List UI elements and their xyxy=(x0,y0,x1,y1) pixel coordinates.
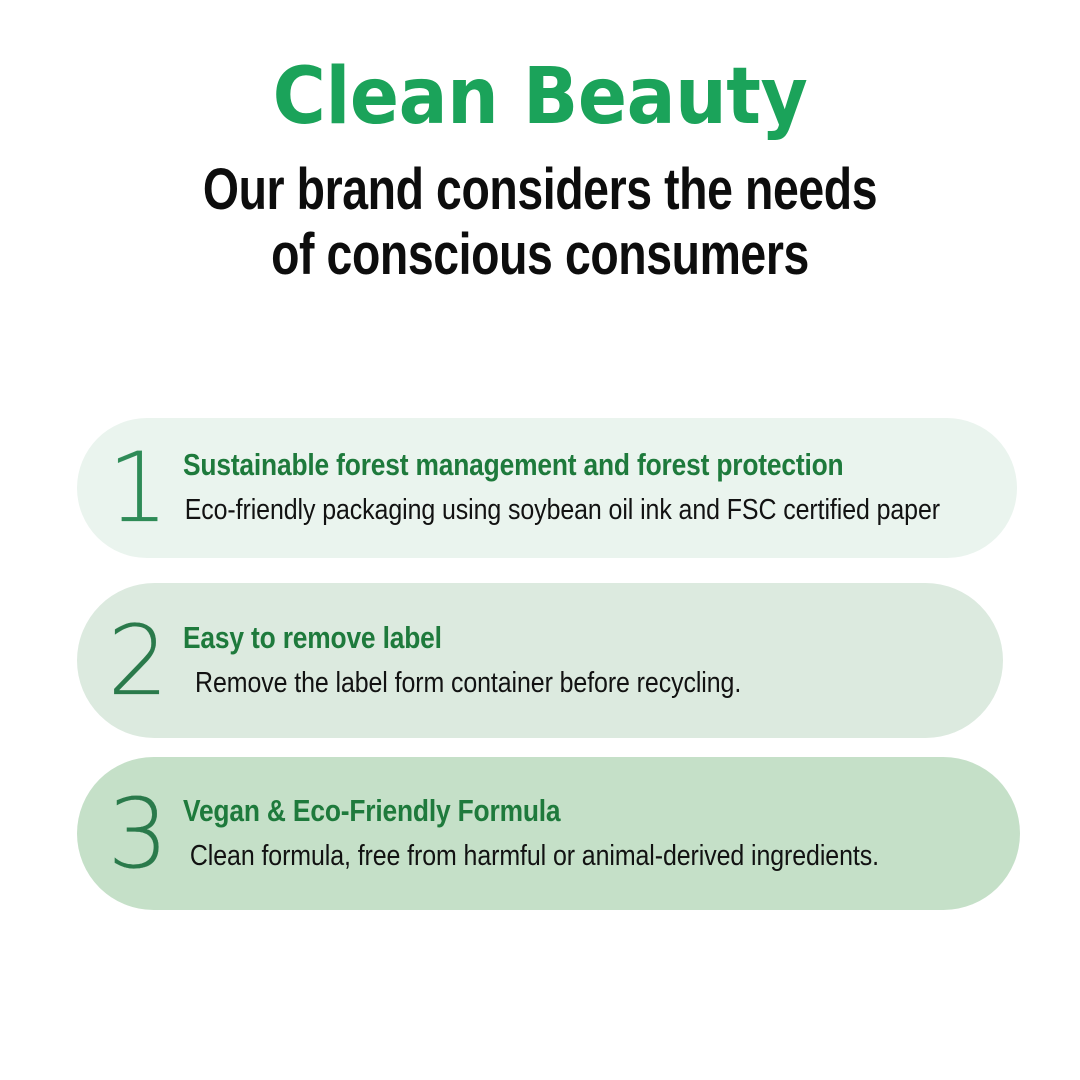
card-body-3: Vegan & Eco-Friendly Formula Clean formu… xyxy=(177,792,1020,876)
infographic-page: Clean Beauty Our brand considers the nee… xyxy=(0,0,1080,1080)
card-body-2: Easy to remove label Remove the label fo… xyxy=(177,619,1003,703)
card-body-1: Sustainable forest management and forest… xyxy=(177,446,1017,530)
card-text-2: Remove the label form container before r… xyxy=(183,665,888,703)
card-heading-3: Vegan & Eco-Friendly Formula xyxy=(183,792,894,830)
feature-card-3: 3 Vegan & Eco-Friendly Formula Clean for… xyxy=(77,757,1020,910)
card-number-3: 3 xyxy=(99,786,177,882)
card-text-3: Clean formula, free from harmful or anim… xyxy=(183,838,903,876)
card-number-2: 2 xyxy=(99,613,177,709)
page-title: Clean Beauty xyxy=(38,0,1042,136)
header: Clean Beauty Our brand considers the nee… xyxy=(0,0,1080,288)
feature-card-2: 2 Easy to remove label Remove the label … xyxy=(77,583,1003,738)
card-heading-1: Sustainable forest management and forest… xyxy=(183,446,892,484)
feature-card-1: 1 Sustainable forest management and fore… xyxy=(77,418,1017,558)
card-text-1: Eco-friendly packaging using soybean oil… xyxy=(183,492,900,530)
subtitle-line-1: Our brand considers the needs xyxy=(108,158,972,223)
card-number-1: 1 xyxy=(99,440,177,536)
page-subtitle: Our brand considers the needs of conscio… xyxy=(108,136,972,288)
subtitle-line-2: of conscious consumers xyxy=(108,223,972,288)
card-heading-2: Easy to remove label xyxy=(183,619,880,657)
